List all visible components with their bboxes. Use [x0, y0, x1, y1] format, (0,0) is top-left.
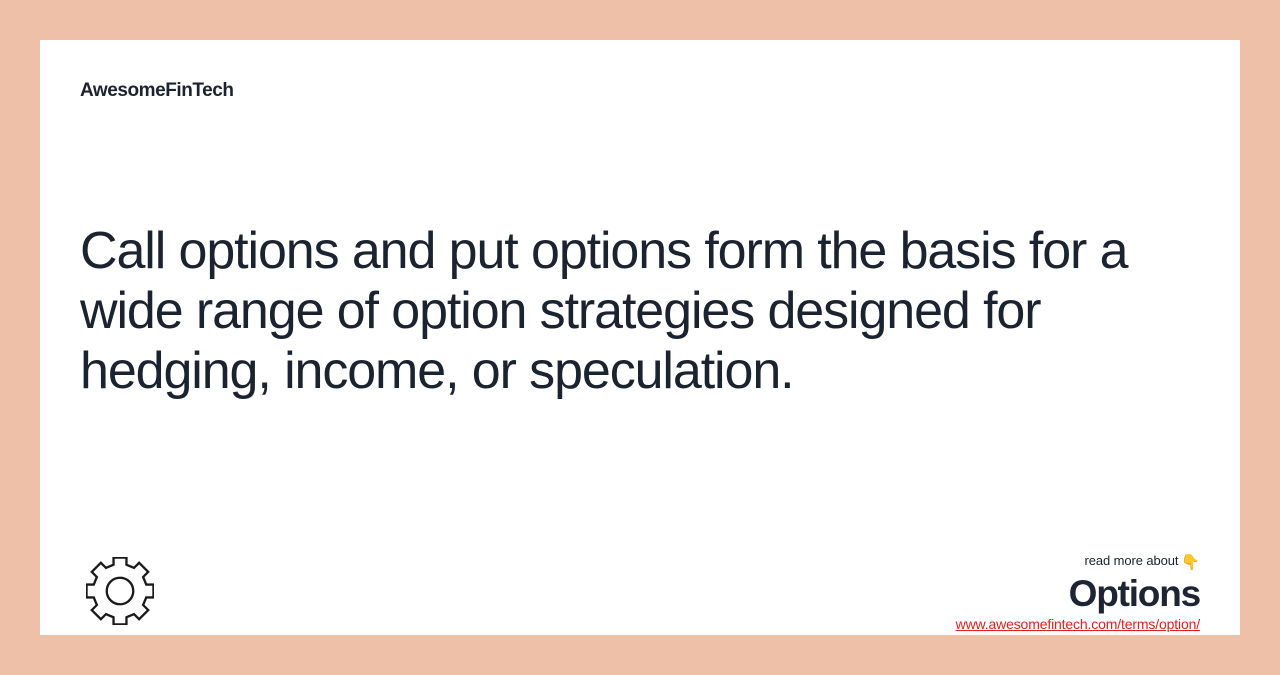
- term-title: Options: [580, 573, 1200, 615]
- card-footer: read more about👇 Options www.awesomefint…: [40, 475, 1240, 635]
- read-more-kicker: read more about👇: [580, 553, 1200, 571]
- poster-canvas: AwesomeFinTech Call options and put opti…: [0, 0, 1280, 675]
- point-down-icon: 👇: [1181, 555, 1200, 571]
- read-more-label: read more about: [1085, 553, 1179, 568]
- gear-icon: [86, 557, 154, 625]
- page-title: Call options and put options form the ba…: [80, 221, 1205, 401]
- read-more-block: read more about👇 Options www.awesomefint…: [580, 553, 1200, 634]
- term-url-link[interactable]: www.awesomefintech.com/terms/option/: [956, 616, 1200, 633]
- brand-logo: AwesomeFinTech: [80, 81, 233, 100]
- content-card: AwesomeFinTech Call options and put opti…: [40, 40, 1240, 635]
